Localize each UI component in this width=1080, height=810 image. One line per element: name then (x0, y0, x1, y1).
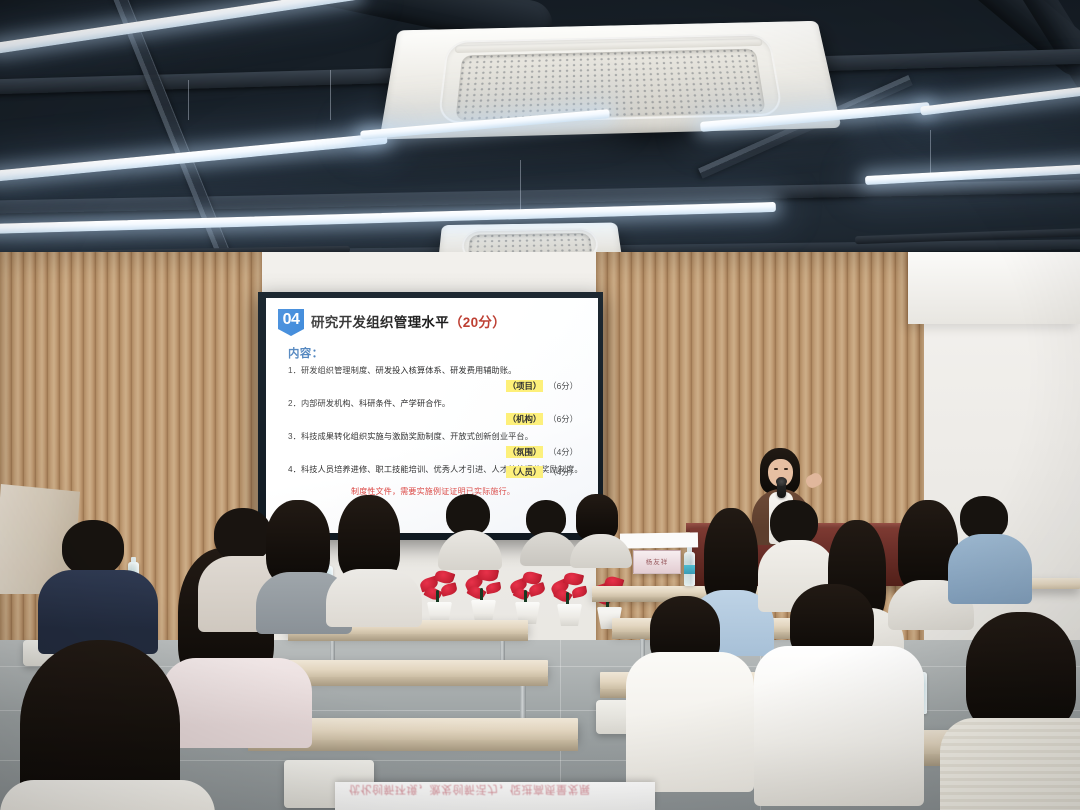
hanger-wire (520, 160, 521, 210)
plant-pot (557, 604, 582, 626)
audience-hair (966, 612, 1076, 732)
ceiling-light-tube (920, 85, 1080, 115)
audience-torso (326, 569, 422, 627)
audience-member (330, 495, 418, 607)
audience-member (438, 494, 502, 558)
bottom-banner-text: 优化创新环境，激发创新活力，促进高质量发展 (335, 782, 655, 807)
audience-torso (438, 530, 502, 570)
ac-grille (456, 48, 766, 121)
audience-torso (626, 652, 754, 792)
name-card: 杨友祥 (633, 550, 681, 574)
audience-member (38, 520, 158, 650)
ceiling-soffit (908, 252, 1080, 324)
ceiling-light-tube (0, 0, 359, 54)
hanger-wire (930, 130, 931, 174)
audience-member (626, 596, 746, 786)
slide-item-1-score: （6分） (548, 380, 578, 392)
paper-sheet (620, 532, 698, 548)
presenter-eye-left (774, 468, 778, 470)
poinsettia-plant (506, 568, 548, 624)
poinsettia-plant (462, 566, 504, 622)
slide-item-2-score: （6分） (548, 413, 578, 425)
slide-section-badge: 04 (278, 309, 304, 336)
hanger-wire (188, 80, 189, 120)
audience-torso (0, 780, 215, 810)
desk-edge (288, 634, 528, 641)
audience-torso (570, 534, 632, 568)
slide-header: 04 研究开发组织管理水平（20分） (278, 309, 588, 336)
audience-member (0, 640, 210, 810)
presentation-slide: 04 研究开发组织管理水平（20分） 内容： 1．研发组织管理制度、研发投入核算… (266, 298, 598, 533)
plant-pot (471, 600, 496, 622)
audience-member (940, 612, 1080, 810)
microphone-head-icon (776, 477, 787, 486)
audience-torso (940, 718, 1080, 810)
slide-item-1-text: 1．研发组织管理制度、研发投入核算体系、研发费用辅助账。 (288, 365, 588, 377)
slide-title-points: （20分） (449, 315, 506, 330)
name-card-text: 杨友祥 (634, 551, 680, 575)
audience-member (570, 494, 630, 554)
hanger-wire (330, 70, 331, 120)
slide-content-label: 内容： (288, 345, 588, 361)
slide-title-text: 研究开发组织管理水平 (311, 315, 449, 330)
slide-item-4-tag: （人员） (506, 466, 544, 478)
audience-member (948, 496, 1028, 602)
audience-member (754, 584, 914, 794)
presenter-eye-right (784, 468, 788, 470)
slide-footnote: 制度性文件，需要实施例证证明已实际施行。 (278, 486, 588, 497)
seminar-room-photo: 04 研究开发组织管理水平（20分） 内容： 1．研发组织管理制度、研发投入核算… (0, 0, 1080, 810)
ceiling-truss (111, 0, 244, 289)
slide-item-2-score-row: （机构） （6分） (278, 413, 578, 425)
poinsettia-plant (418, 568, 460, 624)
audience-torso (948, 534, 1032, 604)
slide-item-2-text: 2．内部研发机构、科研条件、产学研合作。 (288, 398, 588, 410)
slide-item-2-tag: （机构） (506, 413, 544, 425)
audience-member (520, 500, 576, 556)
slide-item-3-score: （4分） (548, 446, 578, 458)
slide-item-1-score-row: （项目） （6分） (278, 380, 578, 392)
audience-head (62, 520, 124, 576)
slide-item-3-text: 3．科技成果转化组织实施与激励奖励制度、开放式创新创业平台。 (288, 431, 588, 443)
poinsettia-plant (548, 570, 590, 626)
slide-item-1-tag: （项目） (506, 380, 544, 392)
slide-item-4-score: （4分） (548, 466, 578, 478)
slide-title: 研究开发组织管理水平（20分） (311, 309, 506, 331)
slide-item-3-score-row: （氛围） （4分） (278, 446, 578, 458)
slide-item-3-tag: （氛围） (506, 446, 544, 458)
audience-torso (754, 646, 924, 806)
bottom-banner: 优化创新环境，激发创新活力，促进高质量发展 (335, 782, 655, 810)
